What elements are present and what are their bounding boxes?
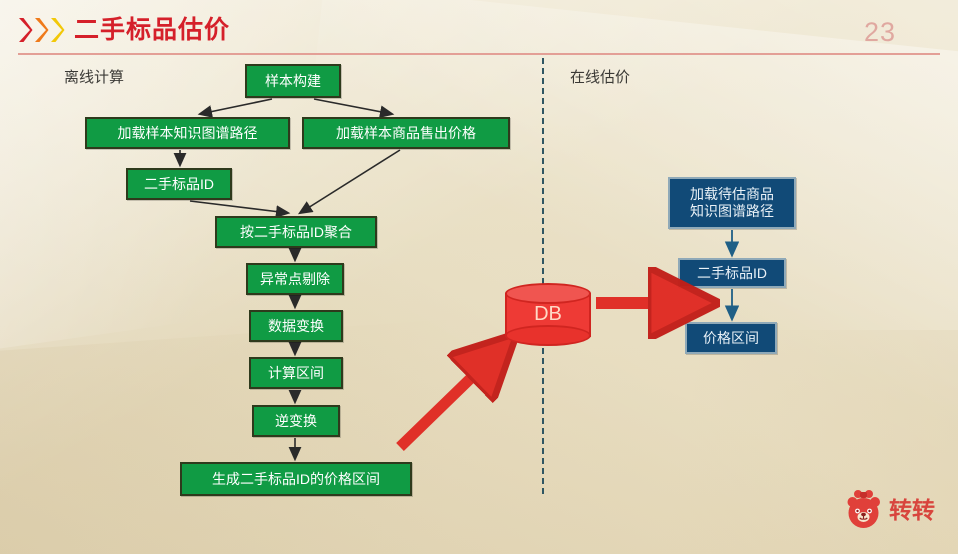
page-number: 23: [864, 16, 896, 48]
section-label-online: 在线估价: [570, 66, 630, 87]
bear-mascot-icon: [845, 489, 883, 531]
chevron-right-icon-2: [34, 17, 49, 43]
header-divider-rule: [18, 53, 940, 55]
database-cylinder[interactable]: DB: [505, 283, 591, 345]
slide-canvas: 二手标品估价 23 离线计算 在线估价: [0, 0, 958, 554]
section-divider: [542, 58, 544, 494]
node-generate-price-range[interactable]: 生成二手标品ID的价格区间: [180, 462, 412, 496]
node-sample-build[interactable]: 样本构建: [245, 64, 341, 98]
node-secondhand-std-id[interactable]: 二手标品ID: [126, 168, 232, 200]
database-label: DB: [505, 300, 591, 328]
node-online-std-id[interactable]: 二手标品ID: [678, 258, 786, 288]
node-load-sample-kg-path[interactable]: 加载样本知识图谱路径: [85, 117, 290, 149]
page-title: 二手标品估价: [74, 14, 230, 46]
chevron-right-icon-1: [18, 17, 33, 43]
node-data-transform[interactable]: 数据变换: [249, 310, 343, 342]
slide-header: 二手标品估价 23: [0, 0, 958, 58]
chevron-right-icon-3: [50, 17, 65, 43]
node-aggregate-by-std-id[interactable]: 按二手标品ID聚合: [215, 216, 377, 248]
node-compute-interval[interactable]: 计算区间: [249, 357, 343, 389]
node-price-range[interactable]: 价格区间: [685, 322, 777, 354]
section-label-offline: 离线计算: [64, 66, 124, 87]
double-chevron-right-icon: [18, 17, 65, 43]
arrow-offline-to-db: [400, 344, 506, 447]
zhuanzhuan-logo: 转转: [845, 487, 947, 533]
node-load-target-kg-path[interactable]: 加载待估商品 知识图谱路径: [668, 177, 796, 229]
brand-name: 转转: [889, 495, 935, 525]
node-inverse-transform[interactable]: 逆变换: [252, 405, 340, 437]
node-outlier-removal[interactable]: 异常点剔除: [246, 263, 344, 295]
node-load-sample-sold-price[interactable]: 加载样本商品售出价格: [302, 117, 510, 149]
red-flow-arrows: [0, 0, 958, 554]
flow-connectors: [0, 0, 958, 554]
database-bottom-ellipse: [505, 325, 591, 346]
